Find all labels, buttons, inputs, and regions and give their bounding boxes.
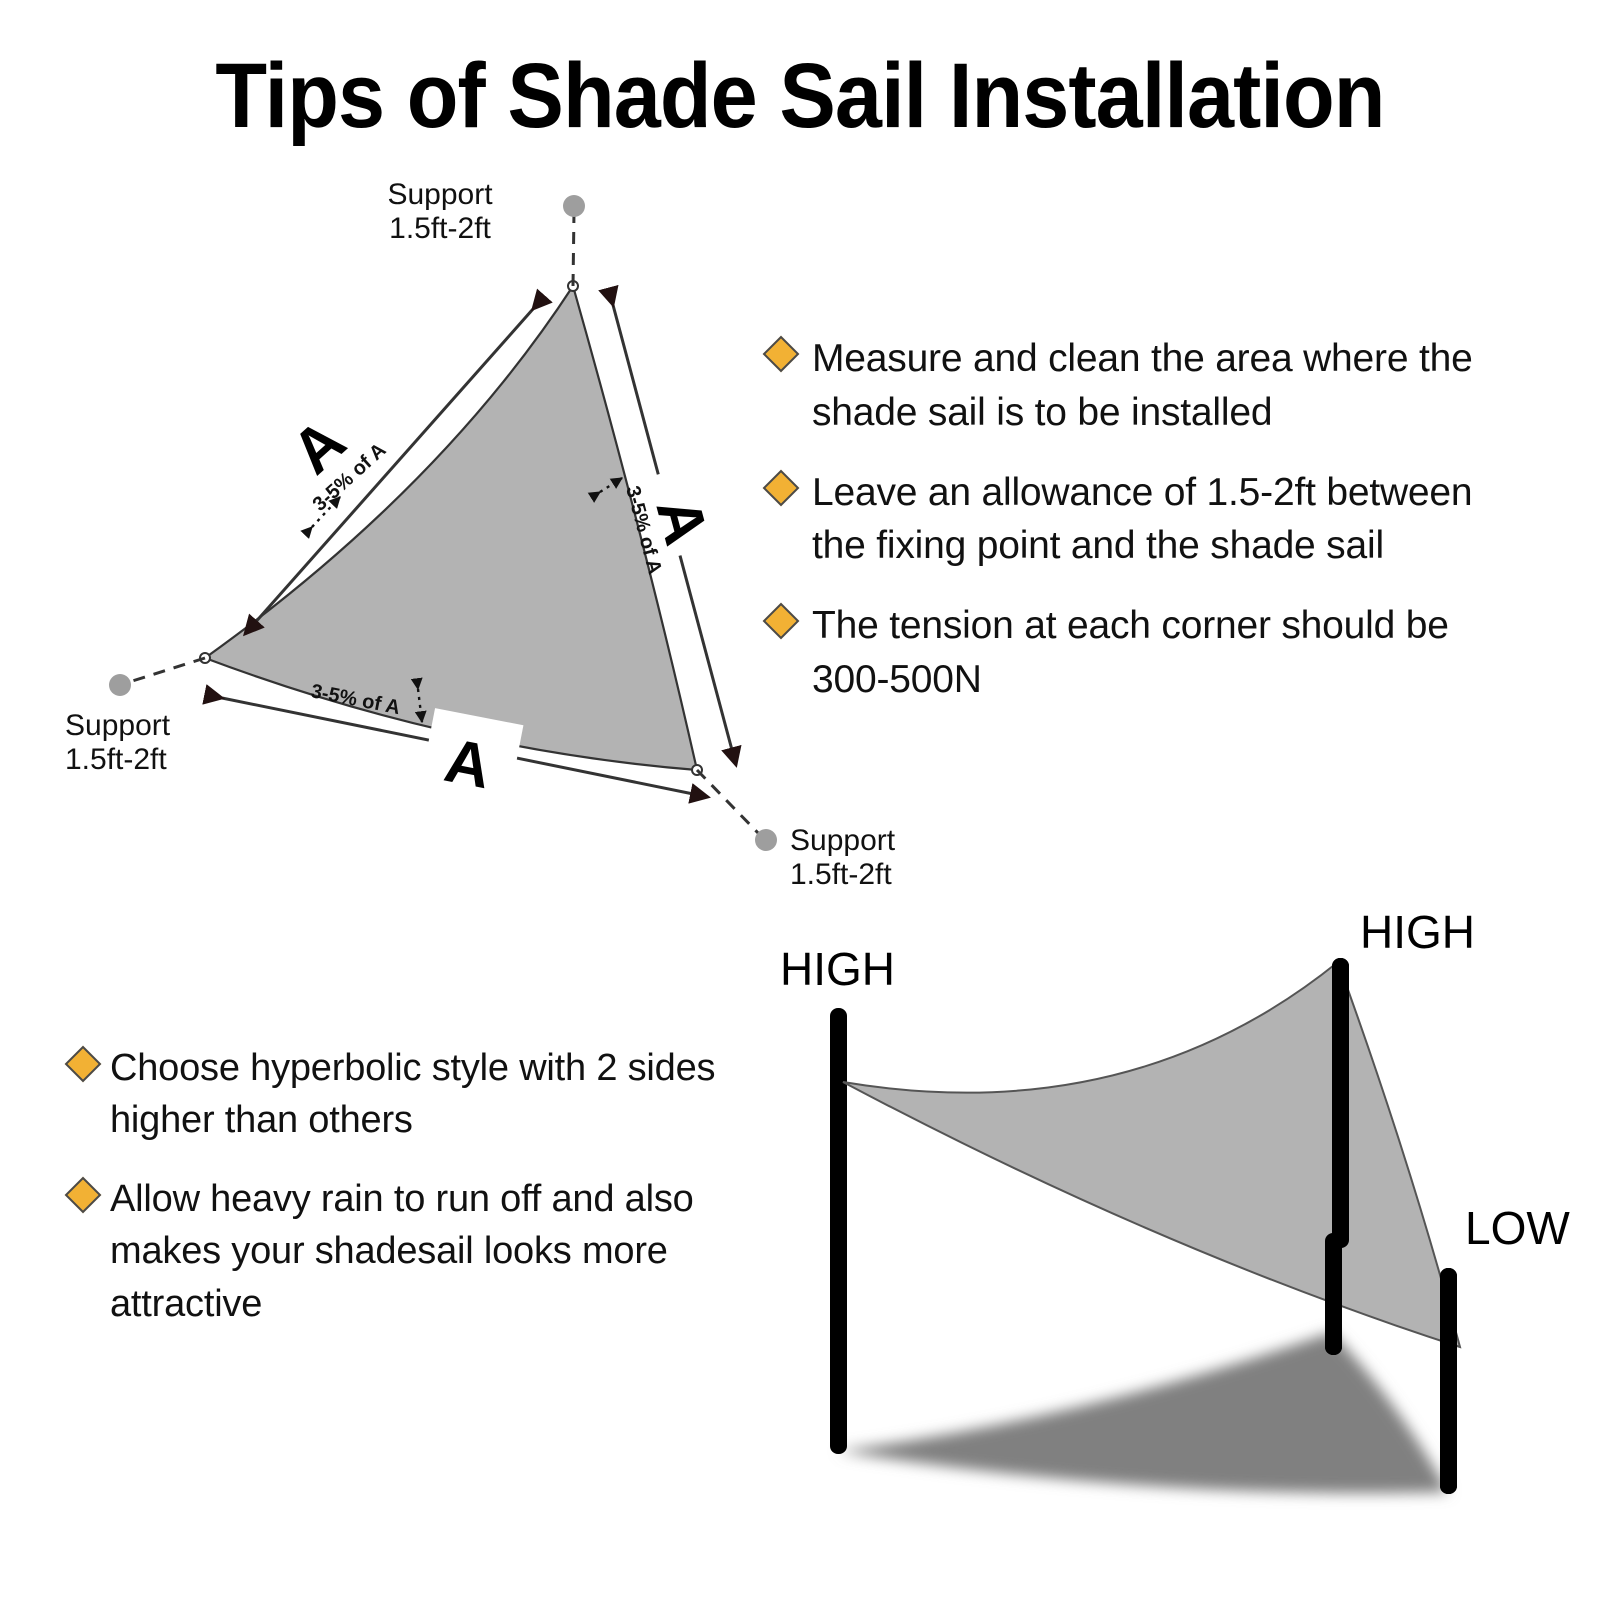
pole-left-label: HIGH	[780, 943, 895, 995]
tip-text: Measure and clean the area where the sha…	[812, 332, 1528, 440]
pole-right-front-label: LOW	[1465, 1202, 1570, 1254]
pole-right-back-front-part	[1332, 958, 1349, 1248]
hyperbolic-shade-sail-diagram: HIGH HIGH LOW	[760, 900, 1580, 1540]
page-title: Tips of Shade Sail Installation	[64, 44, 1536, 149]
support-top-label-line2: 1.5ft-2ft	[389, 212, 491, 245]
list-item: The tension at each corner should be 300…	[768, 599, 1528, 707]
support-br-label-line1: Support	[790, 824, 896, 857]
diamond-bullet-icon	[763, 603, 800, 640]
support-dot-top	[563, 195, 585, 217]
list-item: Measure and clean the area where the sha…	[768, 332, 1528, 440]
support-leader-bottom-right	[697, 770, 760, 835]
tip-text: Leave an allowance of 1.5-2ft between th…	[812, 466, 1528, 574]
tips-list-right: Measure and clean the area where the sha…	[768, 332, 1528, 733]
support-top-label-line1: Support	[387, 178, 493, 211]
support-left-label-line1: Support	[65, 709, 171, 742]
tips-list-bottom-left: Choose hyperbolic style with 2 sides hig…	[70, 1042, 770, 1356]
support-br-label-line2: 1.5ft-2ft	[790, 858, 892, 891]
tip-text: The tension at each corner should be 300…	[812, 599, 1528, 707]
pole-right-front-front-part	[1440, 1268, 1457, 1494]
pole-right-back-label: HIGH	[1360, 906, 1475, 958]
support-dot-bottom-right	[755, 829, 777, 851]
list-item: Choose hyperbolic style with 2 sides hig…	[70, 1042, 770, 1147]
tip-text: Allow heavy rain to run off and also mak…	[110, 1173, 770, 1330]
list-item: Allow heavy rain to run off and also mak…	[70, 1173, 770, 1330]
diamond-bullet-icon	[65, 1176, 102, 1213]
support-leader-left	[126, 658, 205, 683]
pole-left	[830, 1008, 847, 1454]
infographic-page: Tips of Shade Sail Installation A	[0, 0, 1600, 1600]
diamond-bullet-icon	[65, 1046, 102, 1083]
list-item: Leave an allowance of 1.5-2ft between th…	[768, 466, 1528, 574]
ground-shadow	[838, 1332, 1448, 1493]
diamond-bullet-icon	[763, 469, 800, 506]
sail-shape	[205, 286, 697, 770]
pole-middle-front-part	[1325, 1233, 1342, 1355]
sail-membrane	[843, 962, 1460, 1347]
support-leader-top	[573, 212, 574, 286]
tip-text: Choose hyperbolic style with 2 sides hig…	[110, 1042, 770, 1147]
support-left-label-line2: 1.5ft-2ft	[65, 743, 167, 776]
diamond-bullet-icon	[763, 336, 800, 373]
support-dot-left	[109, 674, 131, 696]
